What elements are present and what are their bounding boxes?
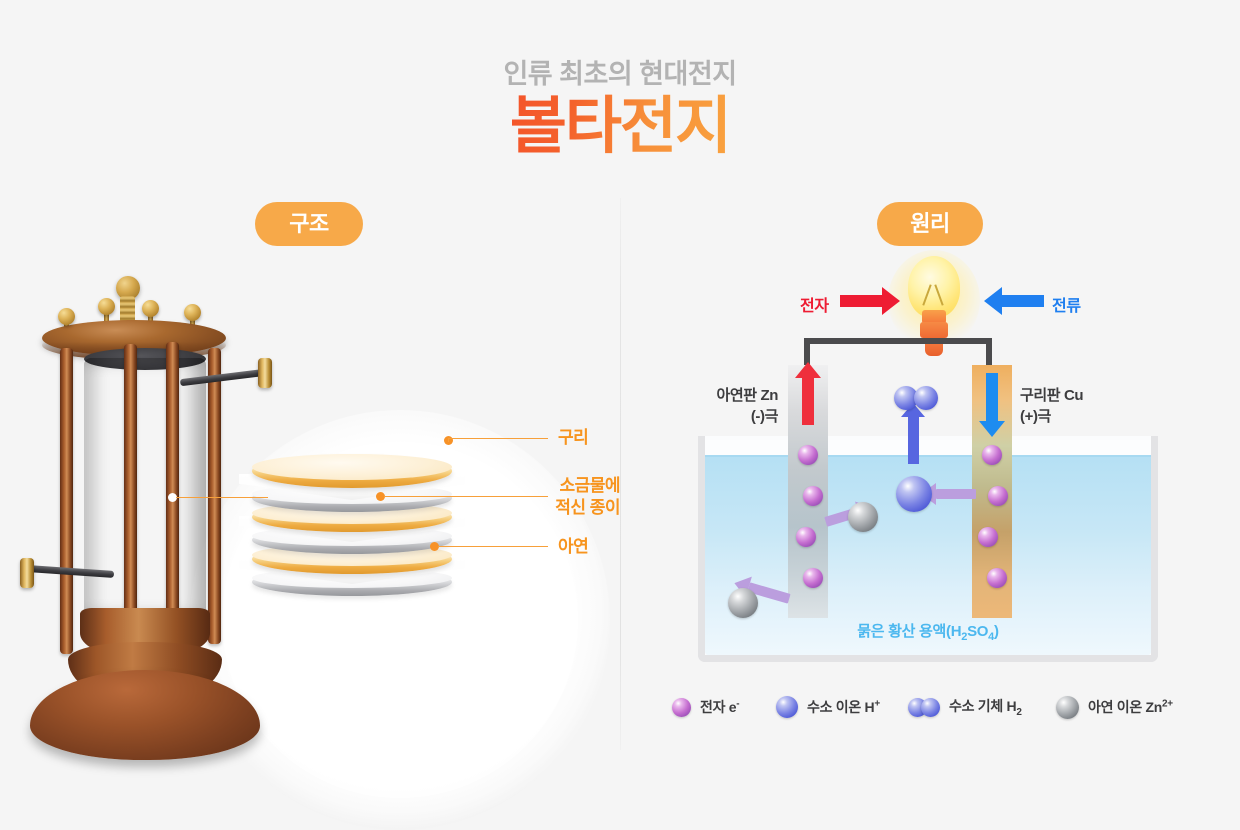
zinc-ion-particle xyxy=(848,502,878,532)
legend-label-electron: 전자 e- xyxy=(700,697,739,717)
electron-particle xyxy=(803,568,823,588)
legend-label-hydrogen-ion: 수소 이온 H+ xyxy=(807,697,880,717)
legend-label-zinc-ion-sup: 2+ xyxy=(1162,698,1173,709)
legend-label-zinc-ion-text: 아연 이온 Zn xyxy=(1088,699,1162,715)
electron-flow-label: 전자 xyxy=(800,292,829,316)
principle-panel: 전자 전류 아연판 Zn (-)극 구리판 Cu (+)극 xyxy=(620,240,1240,750)
solution-label-text: 묽은 황산 용액(H xyxy=(857,623,961,640)
hydrogen-ion-particle xyxy=(896,476,932,512)
current-flow-arrow-icon xyxy=(1002,295,1044,307)
structure-panel: 구리 소금물에 적신 종이 아연 xyxy=(0,250,620,770)
pile-wood-column xyxy=(208,348,221,644)
callout-line-paper xyxy=(384,496,548,497)
copper-disc-top xyxy=(252,454,452,488)
electron-particle xyxy=(803,486,823,506)
electron-flow-arrow-icon xyxy=(840,295,882,307)
zinc-electrode-label-line2: (-)극 xyxy=(751,408,778,425)
legend-item-zinc-ion: 아연 이온 Zn2+ xyxy=(1056,690,1173,724)
zinc-ion-particle xyxy=(728,588,758,618)
bulb-tip xyxy=(925,344,943,356)
electron-particle xyxy=(988,486,1008,506)
electron-particle xyxy=(987,568,1007,588)
liquid-surface-line xyxy=(705,455,1151,457)
zinc-arrow-up-icon xyxy=(802,377,814,425)
legend-item-hydrogen-gas: 수소 기체 H2 xyxy=(908,690,1022,724)
copper-arrow-down-icon xyxy=(986,373,998,421)
zinc-ion-swatch-icon xyxy=(1056,696,1079,719)
zinc-electrode-label-line1: 아연판 Zn xyxy=(717,387,779,404)
electron-particle xyxy=(798,445,818,465)
callout-line-pile xyxy=(176,497,268,498)
pile-wood-column xyxy=(166,342,179,642)
copper-electrode-label-line2: (+)극 xyxy=(1020,408,1051,425)
pile-terminal-knob-bottom xyxy=(20,558,34,588)
hydrogen-ion-motion-arrow xyxy=(936,489,976,499)
exploded-disc-stack xyxy=(252,440,472,600)
copper-electrode-label: 구리판 Cu (+)극 xyxy=(1020,385,1140,428)
legend-label-hydrogen-gas-sub: 2 xyxy=(1016,707,1021,718)
hydrogen-gas-swatch-icon xyxy=(908,698,940,717)
electron-particle xyxy=(796,527,816,547)
current-flow-label: 전류 xyxy=(1052,292,1081,316)
pile-brass-knob xyxy=(58,308,75,325)
hydrogen-ion-swatch-icon xyxy=(776,696,798,718)
callout-label-paper: 소금물에 적신 종이 xyxy=(530,475,620,520)
legend-label-zinc-ion: 아연 이온 Zn2+ xyxy=(1088,697,1173,717)
page-header: 인류 최초의 현대전지 볼타전지 xyxy=(0,58,1240,159)
pile-wooden-base xyxy=(30,670,260,760)
copper-electrode-label-line1: 구리판 Cu xyxy=(1020,387,1083,404)
pile-brass-knob xyxy=(98,298,115,315)
legend-label-electron-sup: - xyxy=(736,698,739,709)
section-badge-structure: 구조 xyxy=(255,202,363,246)
legend-item-hydrogen-ion: 수소 이온 H+ xyxy=(776,690,880,724)
hydrogen-gas-rise-arrow xyxy=(908,416,919,464)
callout-label-paper-line2: 적신 종이 xyxy=(555,498,620,517)
bulb-base xyxy=(920,322,948,338)
electron-swatch-icon xyxy=(672,698,691,717)
callout-line-copper xyxy=(448,438,548,439)
legend: 전자 e- 수소 이온 H+ 수소 기체 H2 아연 이온 Zn2+ xyxy=(672,690,1212,726)
pile-disc-stack xyxy=(84,358,206,618)
callout-label-copper: 구리 xyxy=(558,427,588,449)
legend-label-electron-text: 전자 e xyxy=(700,699,736,715)
electron-particle xyxy=(978,527,998,547)
legend-label-hydrogen-gas: 수소 기체 H2 xyxy=(949,696,1022,718)
legend-label-hydrogen-ion-text: 수소 이온 H xyxy=(807,699,874,715)
infographic-canvas: 인류 최초의 현대전지 볼타전지 구조 원리 xyxy=(0,0,1240,820)
zinc-electrode-label: 아연판 Zn (-)극 xyxy=(680,385,778,428)
legend-item-electron: 전자 e- xyxy=(672,690,739,724)
solution-label-close: ) xyxy=(994,623,999,640)
pile-wood-column xyxy=(60,348,73,654)
pile-wood-column xyxy=(124,344,137,652)
solution-label-so: SO xyxy=(967,623,988,640)
callout-label-paper-line1: 소금물에 xyxy=(559,476,620,495)
page-title: 볼타전지 xyxy=(510,94,730,159)
electron-particle xyxy=(982,445,1002,465)
pile-brass-knob xyxy=(142,300,159,317)
solution-label: 묽은 황산 용액(H2SO4) xyxy=(705,620,1151,643)
callout-line-zinc xyxy=(438,546,548,547)
page-subtitle: 인류 최초의 현대전지 xyxy=(0,58,1240,90)
legend-label-hydrogen-gas-text: 수소 기체 H xyxy=(949,698,1016,714)
hydrogen-gas-particle xyxy=(914,386,938,410)
legend-label-hydrogen-ion-sup: + xyxy=(874,698,880,709)
pile-brass-knob xyxy=(184,304,201,321)
pile-terminal-knob-top xyxy=(258,358,272,388)
light-bulb-icon xyxy=(908,256,960,318)
callout-label-zinc: 아연 xyxy=(558,536,588,558)
